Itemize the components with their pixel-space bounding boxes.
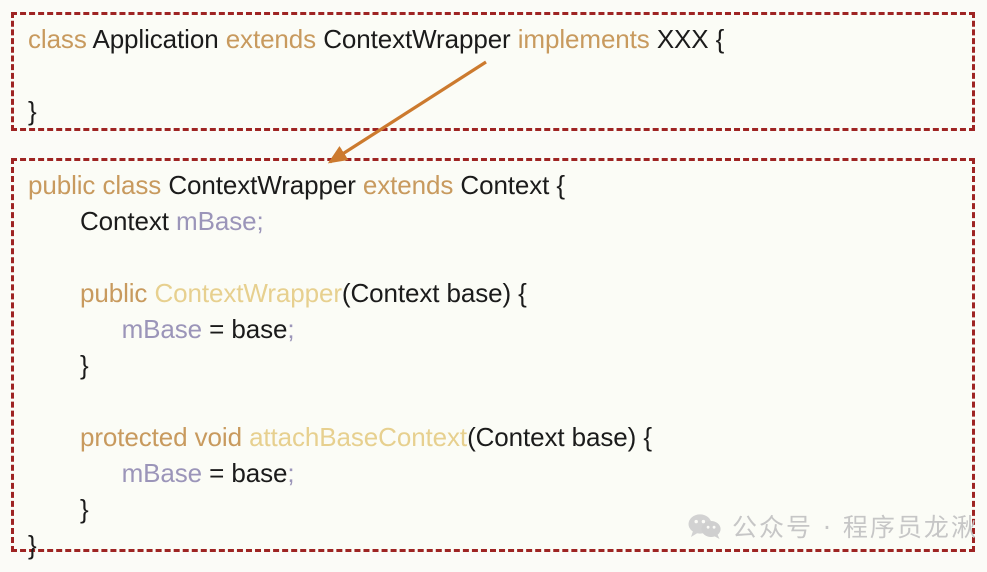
code-token-kw: implements [518,24,650,54]
code-token-punc: { [709,24,725,54]
code-token-punc [188,422,195,452]
code-token-field: mBase [176,206,256,236]
contextwrapper-class-snippet: public class ContextWrapper extends Cont… [11,158,975,552]
code-token-kw: void [195,422,242,452]
code-token-field: mBase [122,314,202,344]
code-line [28,383,972,419]
code-token-type: Context base [476,422,628,452]
code-token-type: ContextWrapper [168,170,355,200]
code-token-type: ContextWrapper [323,24,510,54]
code-token-field: mBase [122,458,202,488]
code-line: } [28,93,972,129]
code-token-punc: { [549,170,565,200]
code-token-punc: ( [467,422,476,452]
code-token-punc: } [28,530,37,560]
code-token-type: base [231,458,287,488]
code-token-punc [242,422,249,452]
code-line [28,57,972,93]
code-token-type: Application [92,24,218,54]
screenshot-canvas: class Application extends ContextWrapper… [0,0,987,572]
code-token-field: ; [287,314,294,344]
code-token-punc: } [80,350,89,380]
code-token-kw: public [28,170,95,200]
code-token-type: Context [460,170,549,200]
code-token-fn: attachBaseContext [249,422,467,452]
code-token-kw: protected [80,422,188,452]
code-token-type: XXX [657,24,709,54]
code-token-punc: } [80,494,89,524]
code-token-punc: = [202,458,231,488]
code-token-kw: extends [363,170,453,200]
code-line: } [28,347,972,383]
code-token-type: Context base [350,278,502,308]
code-token-kw: public [80,278,147,308]
code-token-punc: = [202,314,231,344]
code-token-punc [356,170,363,200]
code-line: public class ContextWrapper extends Cont… [28,167,972,203]
code-token-kw: class [28,24,87,54]
code-token-fn: ContextWrapper [154,278,341,308]
code-line: mBase = base; [28,311,972,347]
code-token-punc [650,24,657,54]
code-line: class Application extends ContextWrapper… [28,21,972,57]
watermark-text: 公众号 · 程序员龙湫 [732,508,978,544]
code-line: public ContextWrapper(Context base) { [28,275,972,311]
code-line: protected void attachBaseContext(Context… [28,419,972,455]
code-token-kw: extends [226,24,316,54]
watermark: 公众号 · 程序员龙湫 [688,508,978,544]
code-token-field: ; [287,458,294,488]
code-token-field: ; [256,206,263,236]
code-token-punc: ) { [502,278,526,308]
code-line [28,239,972,275]
code-token-punc: ) { [628,422,652,452]
code-lines-contextwrapper: public class ContextWrapper extends Cont… [14,161,972,563]
code-token-punc [219,24,226,54]
code-line: mBase = base; [28,455,972,491]
code-token-type: Context [80,206,169,236]
code-token-punc: } [28,96,37,126]
code-token-punc [169,206,176,236]
code-token-punc [511,24,518,54]
wechat-icon [688,513,722,539]
code-token-kw: class [102,170,161,200]
code-lines-application: class Application extends ContextWrapper… [14,15,972,129]
code-token-type: base [231,314,287,344]
application-class-snippet: class Application extends ContextWrapper… [11,12,975,131]
code-line: Context mBase; [28,203,972,239]
